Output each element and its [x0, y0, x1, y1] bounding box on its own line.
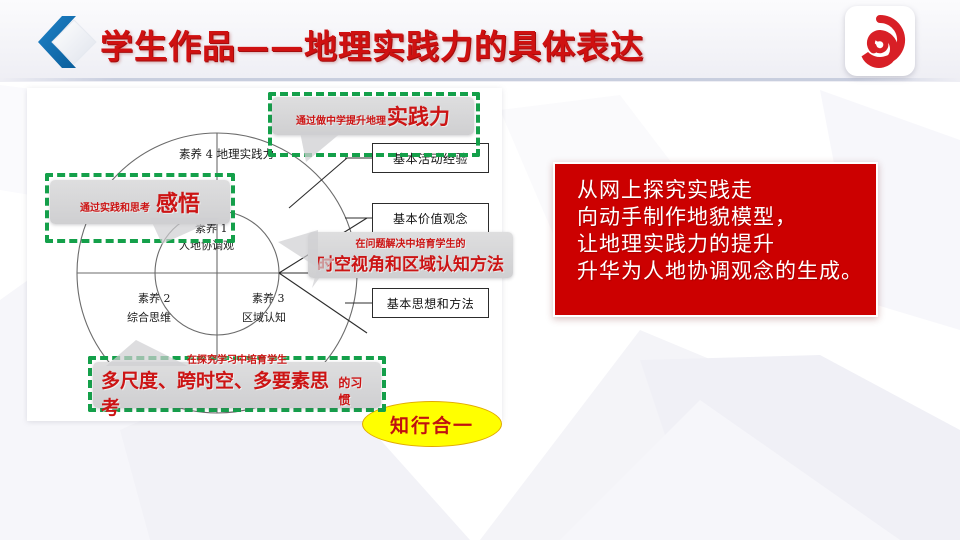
- callout-top-big: 实践力: [387, 101, 450, 131]
- ellipse-zhixing-heyi: 知行合一: [362, 401, 502, 447]
- callout-top-small: 通过做中学提升地理: [296, 112, 386, 127]
- label-suyang-3: 素养 3: [252, 290, 285, 306]
- callout-left-tail: [150, 218, 240, 250]
- callout-bottom-tail: [96, 340, 206, 368]
- callout-top-tail: [300, 132, 360, 164]
- red-panel-line-2: 向动手制作地貌模型，: [577, 204, 876, 231]
- callout-bottom-big-tail: 的习惯: [338, 374, 373, 408]
- outline-box-basic-values: 基本价值观念: [372, 203, 489, 233]
- red-summary-panel: 从网上探究实践走 向动手制作地貌模型， 让地理实践力的提升 升华为人地协调观念的…: [553, 162, 878, 317]
- label-suyang-2: 素养 2: [138, 290, 171, 306]
- page-title: 学生作品——地理实践力的具体表达: [100, 20, 644, 68]
- callout-left-small: 通过实践和思考: [80, 199, 150, 214]
- callout-top: 通过做中学提升地理 实践力: [272, 97, 474, 135]
- callout-bottom-big: 多尺度、跨时空、多要素思考: [101, 366, 338, 420]
- callout-middle-tail: [278, 228, 348, 292]
- slide-header: 学生作品——地理实践力的具体表达: [0, 0, 960, 82]
- label-suyang-2-sub: 综合思维: [127, 309, 171, 325]
- header-divider: [0, 78, 960, 81]
- red-panel-line-4: 升华为人地协调观念的生成。: [577, 258, 876, 285]
- chevron-left-icon: [30, 12, 102, 72]
- outline-box-basic-methods: 基本思想和方法: [372, 288, 489, 318]
- red-spiral-logo-icon: [845, 6, 915, 76]
- slide-canvas: 学生作品——地理实践力的具体表达: [0, 0, 960, 540]
- callout-left-big: 感悟: [156, 186, 200, 218]
- ellipse-label: 知行合一: [390, 411, 474, 438]
- callout-bottom: 在探究学习中培育学生 多尺度、跨时空、多要素思考 的习惯: [93, 362, 381, 408]
- red-panel-line-1: 从网上探究实践走: [577, 177, 876, 204]
- callout-middle-small: 在问题解决中培育学生的: [356, 235, 466, 250]
- outline-box-basic-activity: 基本活动经验: [372, 143, 489, 173]
- red-panel-line-3: 让地理实践力的提升: [577, 231, 876, 258]
- label-suyang-3-sub: 区域认知: [242, 309, 286, 325]
- label-suyang-4: 素养 4 地理实践力: [179, 146, 274, 162]
